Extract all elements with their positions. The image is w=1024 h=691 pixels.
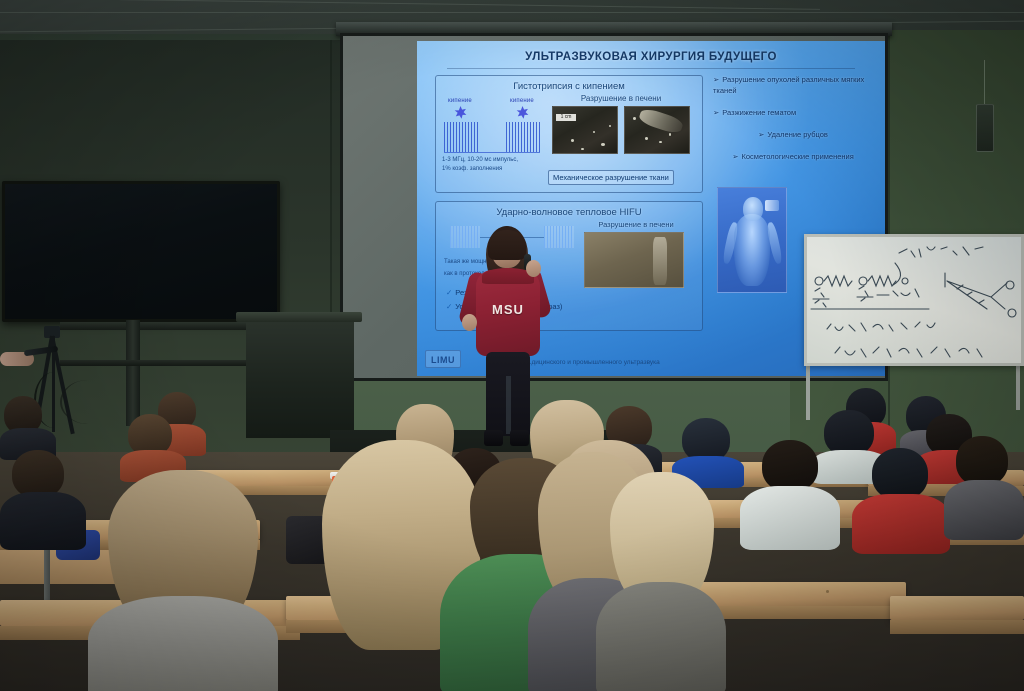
bullet-item: ➢Удаление рубцов — [713, 130, 873, 141]
arrow-bullet-icon: ➢ — [758, 130, 764, 139]
list-item — [0, 450, 86, 546]
cable — [60, 380, 116, 424]
bullet-text: Разрушение опухолей различных мягких тка… — [713, 75, 864, 95]
liver-destruction-caption: Разрушение в печени — [546, 94, 696, 103]
student-head — [12, 450, 64, 498]
list-item — [944, 436, 1024, 540]
arrow-bullet-icon: ➢ — [732, 152, 738, 161]
mechanical-destruction-callout: Механическое разрушение ткани — [548, 170, 674, 185]
lecture-hall-photo: УЛЬТРАЗВУКОВАЯ ХИРУРГИЯ БУДУЩЕГО Гистотр… — [0, 0, 1024, 691]
anatomy-figure-image — [717, 187, 787, 293]
cavitation-burst-icon — [516, 106, 529, 119]
whiteboard[interactable] — [804, 234, 1024, 366]
tissue-image-left: 1 cm — [552, 106, 618, 154]
hifu-tissue-image — [584, 232, 684, 288]
desk — [890, 596, 1024, 620]
pulse-train-graphic — [444, 122, 478, 152]
cavitation-burst-icon — [454, 106, 467, 119]
hoodie-logo-text: MSU — [488, 300, 528, 320]
slide-title: УЛЬТРАЗВУКОВАЯ ХИРУРГИЯ БУДУЩЕГО — [417, 51, 885, 63]
ceiling-panel-line — [0, 12, 1024, 13]
desk-edge — [890, 620, 1024, 634]
slide-bullet-list: ➢Разрушение опухолей различных мягких тк… — [713, 75, 873, 173]
slide-panel-histotripsy: Гистотрипсия с кипением кипение кипение … — [435, 75, 703, 193]
student-body — [852, 494, 950, 554]
presenter-hand-right — [526, 260, 541, 277]
lectern-top — [236, 312, 362, 322]
bullet-item: ➢Косметологические применения — [713, 152, 873, 163]
whiteboard-leg — [806, 360, 810, 420]
presenter-hand-left — [462, 314, 477, 331]
bullet-item: ➢Разрушение опухолей различных мягких тк… — [713, 75, 873, 97]
arrow-bullet-icon: ➢ — [713, 75, 719, 84]
pulse-train-graphic — [506, 122, 540, 152]
arrow-bullet-icon: ➢ — [713, 108, 719, 117]
slide-title-rule — [447, 68, 855, 69]
list-item — [0, 396, 56, 456]
whiteboard-equations — [807, 237, 1024, 366]
student-body — [944, 480, 1024, 540]
bullet-text: Удаление рубцов — [767, 130, 827, 139]
student-body — [88, 596, 278, 691]
student-body — [596, 582, 726, 691]
boiling-label-right: кипение — [510, 98, 534, 104]
presenter-hair-front — [488, 230, 526, 260]
whiteboard-leg — [1016, 360, 1020, 410]
wall-speaker-icon — [976, 104, 994, 152]
desk-screw — [826, 590, 829, 593]
bullet-text: Разжижение гематом — [722, 108, 796, 117]
panel-heading: Гистотрипсия с кипением — [436, 81, 702, 92]
presenter-leg-gap — [506, 376, 511, 434]
student-head — [956, 436, 1008, 486]
check-icon: ✓ — [446, 288, 452, 297]
list-item — [740, 440, 840, 550]
bullet-text: Косметологические применения — [742, 152, 854, 161]
presenter-boot — [510, 430, 529, 446]
student-body — [740, 486, 840, 550]
student-head — [762, 440, 818, 492]
check-icon: ✓ — [446, 302, 452, 311]
display-screen — [5, 184, 277, 319]
hifu-liver-caption: Разрушение в печени — [576, 220, 696, 229]
list-item — [120, 414, 186, 478]
limu-logo: LIMU — [425, 350, 461, 368]
display-stand-arm — [60, 322, 260, 330]
list-item — [852, 448, 950, 554]
boiling-label-left: кипение — [448, 98, 472, 104]
scale-bar-label: 1 cm — [556, 114, 576, 121]
student-body — [0, 492, 86, 550]
histotripsy-parameters: 1-3 МГц, 10-20 мс импульс, 1% коэф. запо… — [442, 156, 546, 174]
list-item — [596, 472, 726, 691]
student-head — [872, 448, 928, 500]
transducer-icon — [765, 200, 779, 211]
speaker-wire — [984, 60, 985, 106]
tissue-image-right — [624, 106, 690, 154]
display-stand-crossbar — [60, 360, 260, 366]
pulse-baseline — [444, 152, 540, 153]
panel-heading: Ударно-волновое тепловое HIFU — [436, 207, 702, 218]
flat-panel-display[interactable] — [2, 181, 280, 322]
lectern — [246, 318, 354, 438]
display-stand-post — [126, 320, 140, 426]
list-item — [88, 470, 278, 691]
bullet-item: ➢Разжижение гематом — [713, 108, 873, 119]
